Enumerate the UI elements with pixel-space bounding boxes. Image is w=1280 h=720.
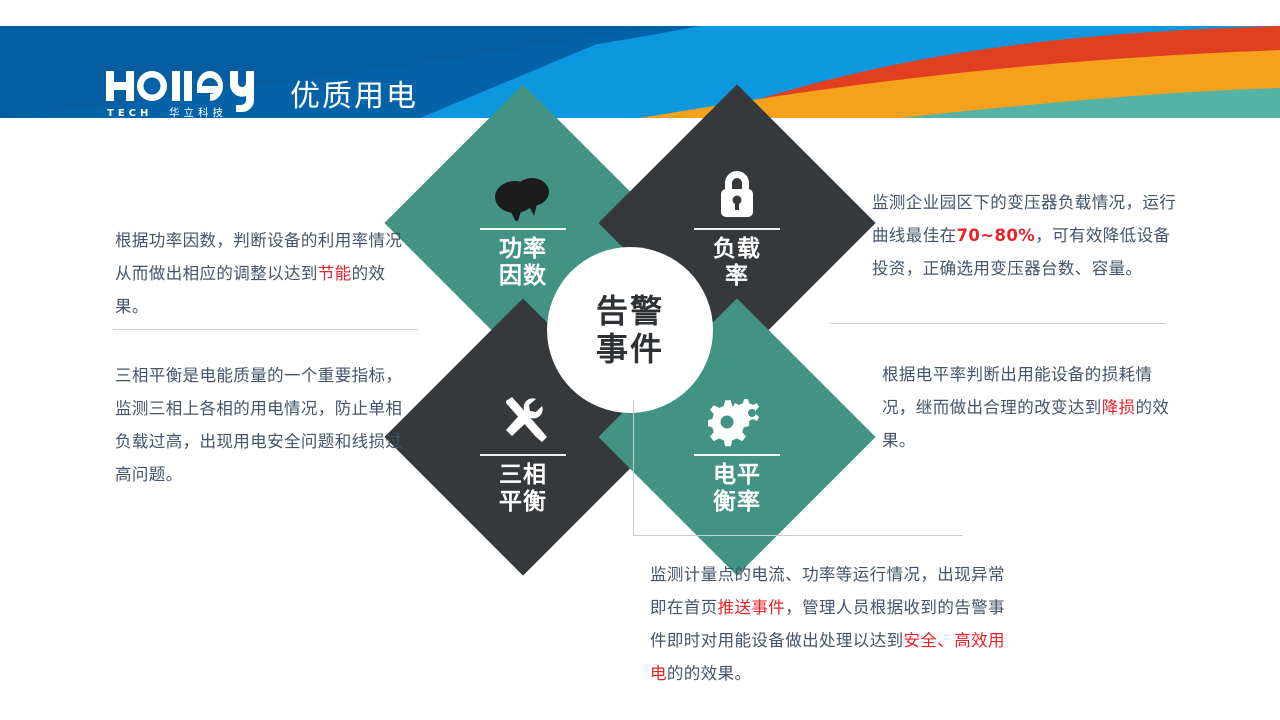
center-label-line2: 事件	[596, 330, 664, 368]
holley-logo: TECH 华立科技	[104, 69, 264, 118]
diagram-node-label: 三相 平衡	[499, 462, 547, 516]
text-segment: 三相平衡是电能质量的一个重要指标，监测三相上各相的用电情况，防止单相负载过高，出…	[115, 366, 402, 484]
description-level-balance: 根据电平率判断出用能设备的损耗情况，继而做出合理的改变达到降损的效果。	[882, 358, 1178, 457]
center-label-line1: 告警	[596, 292, 664, 330]
node-label-line1: 三相	[499, 462, 547, 489]
svg-text:TECH: TECH	[107, 108, 152, 118]
slide-header: TECH 华立科技 优质用电	[0, 26, 1280, 118]
node-label-line2: 衡率	[713, 489, 761, 516]
node-divider	[480, 228, 566, 230]
node-label-line1: 负载	[713, 236, 761, 263]
diagram-node-label: 负载 率	[713, 236, 761, 290]
divider-vertical	[633, 400, 634, 536]
text-segment: 推送事件	[718, 598, 786, 617]
node-label-line2: 率	[713, 263, 761, 290]
node-label-line1: 电平	[713, 462, 761, 489]
divider-bottom	[633, 535, 963, 536]
holley-logo-icon: TECH 华立科技	[104, 69, 264, 118]
text-segment: 降损	[1102, 398, 1136, 417]
gears-icon	[708, 385, 766, 447]
node-divider	[694, 228, 780, 230]
node-label-line2: 平衡	[499, 489, 547, 516]
node-label-line1: 功率	[499, 236, 547, 263]
description-power-factor: 根据功率因数，判断设备的利用率情况从而做出相应的调整以达到节能的效果。	[115, 224, 415, 323]
alarm-event-diagram: 功率 因数	[420, 120, 840, 540]
node-divider	[480, 454, 566, 456]
text-segment: 70~80%	[957, 226, 1036, 245]
slide-canvas: TECH 华立科技 优质用电	[0, 0, 1280, 720]
lock-icon	[714, 159, 760, 221]
divider-left	[113, 329, 418, 330]
tools-icon	[496, 385, 550, 447]
description-three-phase: 三相平衡是电能质量的一个重要指标，监测三相上各相的用电情况，防止单相负载过高，出…	[115, 359, 415, 491]
description-alarm-event: 监测计量点的电流、功率等运行情况，出现异常即在首页推送事件，管理人员根据收到的告…	[650, 558, 1020, 690]
text-segment: 节能	[318, 264, 352, 283]
description-load-rate: 监测企业园区下的变压器负载情况，运行曲线最佳在70~80%，可有效降低设备投资，…	[872, 186, 1180, 285]
page-title: 优质用电	[290, 78, 418, 116]
speech-bubbles-icon	[491, 159, 555, 221]
diagram-center-label: 告警 事件	[596, 292, 664, 368]
svg-text:华立科技: 华立科技	[169, 106, 227, 118]
divider-right	[830, 323, 1166, 324]
node-label-line2: 因数	[499, 263, 547, 290]
text-segment: 的的效果。	[667, 664, 752, 683]
node-divider	[694, 454, 780, 456]
diagram-node-label: 功率 因数	[499, 236, 547, 290]
diagram-center: 告警 事件	[547, 247, 713, 413]
diagram-node-label: 电平 衡率	[713, 462, 761, 516]
